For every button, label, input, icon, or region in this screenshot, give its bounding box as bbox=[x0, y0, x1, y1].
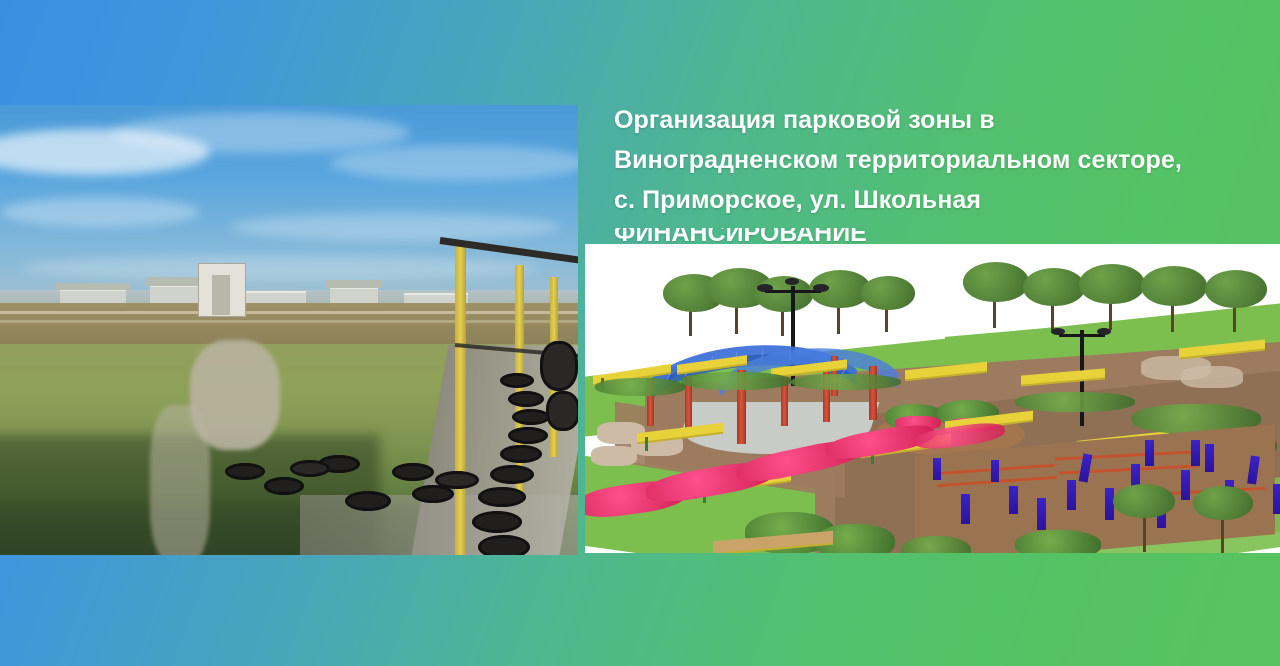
slide-title: Организация парковой зоны в Виноградненс… bbox=[614, 100, 1264, 220]
park-3d-visualization bbox=[585, 244, 1280, 553]
existing-site-photograph bbox=[0, 105, 578, 555]
title-line-3: с. Приморское, ул. Школьная bbox=[614, 180, 1264, 220]
render-canvas bbox=[585, 244, 1280, 553]
photo-post bbox=[455, 241, 466, 555]
city-skyline-outline-icon bbox=[0, 536, 1280, 666]
presentation-slide: Организация парковой зоны в Виноградненс… bbox=[0, 0, 1280, 666]
title-line-2: Виноградненском территориальном секторе, bbox=[614, 140, 1264, 180]
slide-subtitle-clipped: ФИНАНСИРОВАНИЕ bbox=[614, 228, 1014, 244]
subtitle-text: ФИНАНСИРОВАНИЕ bbox=[614, 228, 1014, 244]
title-line-1: Организация парковой зоны в bbox=[614, 100, 1264, 140]
